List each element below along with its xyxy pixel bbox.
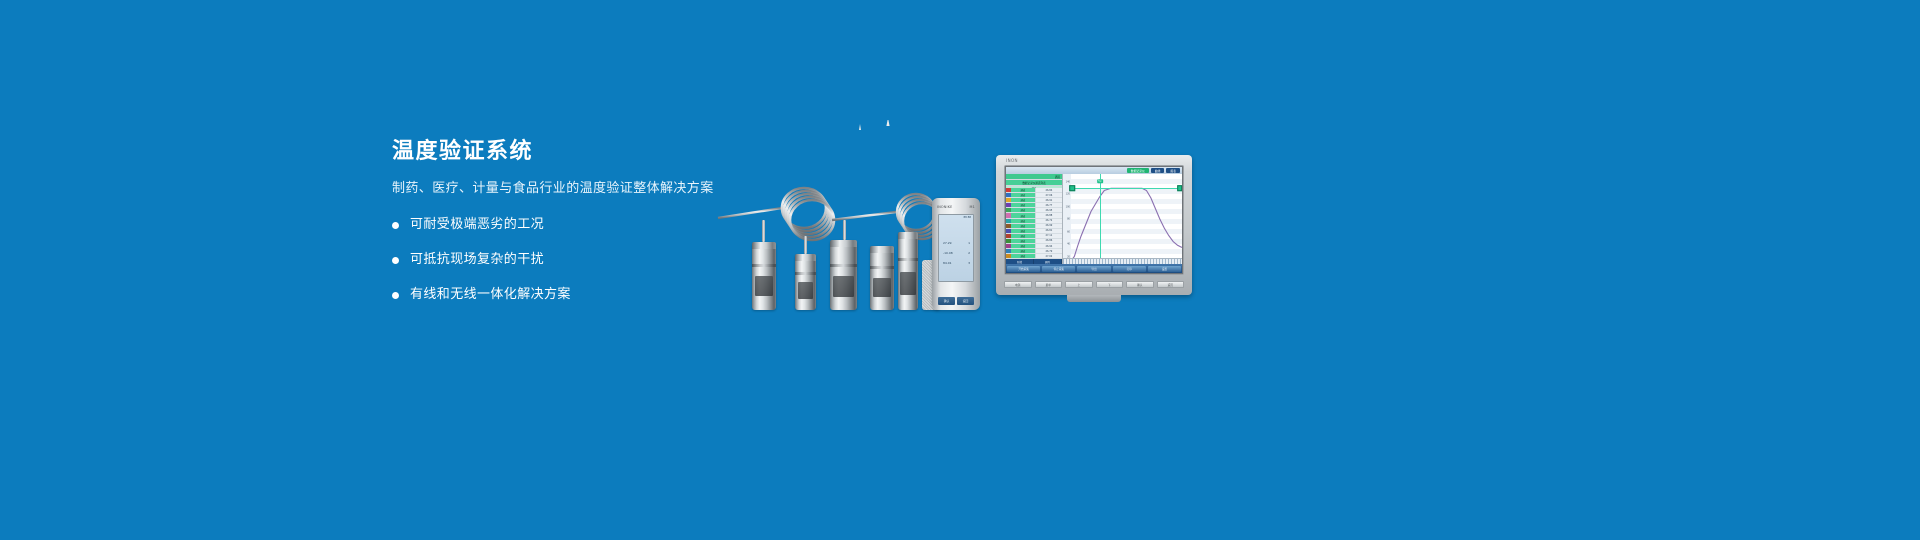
feature-label: 可耐受极端恶劣的工况 <box>410 216 544 234</box>
channel-value-cell: 26.72 <box>1035 219 1062 223</box>
monitor-up-button[interactable]: 上 <box>1065 281 1093 288</box>
channel-value-cell: 26.79 <box>1035 249 1062 253</box>
logger-cap <box>752 242 776 249</box>
monitor-power-button[interactable]: 电源 <box>1004 281 1032 288</box>
export-button[interactable]: 导出 <box>1077 266 1110 272</box>
tab-curve[interactable]: 曲线 <box>1151 168 1165 173</box>
chart-handle-right[interactable] <box>1177 185 1183 191</box>
print-button[interactable]: 打印 <box>1113 266 1146 272</box>
logger-label <box>755 276 773 296</box>
list-item <box>752 242 776 310</box>
logger-band <box>898 258 918 261</box>
list-item: 84.01 3 <box>943 261 970 265</box>
logger-cap <box>830 240 857 247</box>
product-banner: 温度验证系统 制药、医疗、计量与食品行业的温度验证整体解决方案 可耐受极端恶劣的… <box>0 0 1920 540</box>
reading-value: -10.08 <box>943 251 953 255</box>
channel-name-cell: 通道 <box>1011 254 1035 258</box>
chart-marker-a[interactable]: A点 <box>1097 179 1103 182</box>
channel-value-cell: 26.99 <box>1035 224 1062 228</box>
channel-name-cell: 通道 <box>1011 229 1035 233</box>
channel-value-cell: 27.06 <box>1035 193 1062 197</box>
channel-value-cell: 26.91 <box>1035 198 1062 202</box>
reading-value: 84.01 <box>943 261 952 265</box>
chart-y-tick: 140 <box>1066 180 1070 183</box>
channel-value-cell: 26.77 <box>1035 203 1062 207</box>
logger-body <box>898 232 918 310</box>
list-item <box>795 254 816 310</box>
software-body: 通道 数据记录仪通道列表 编号 通道26.84通道27.06通道26.91通道2… <box>1006 174 1182 264</box>
bullet-dot-icon <box>392 292 399 299</box>
cable-coil-1 <box>782 188 834 240</box>
monitor-hardware-buttons: 电源 菜单 上 下 确认 返回 <box>1004 278 1184 291</box>
chart-plot-area: A点 A点 <box>1071 174 1182 264</box>
validation-monitor: INON 数据记录仪 曲线 报表 通道 数据记录仪通道列表 编号 <box>996 155 1192 295</box>
reader-confirm-button[interactable]: 确认 <box>938 297 955 305</box>
channel-value-cell: 26.86 <box>1035 239 1062 243</box>
logger-band <box>752 264 776 267</box>
chart-cursor-line <box>1100 174 1101 264</box>
channel-name-cell: 通道 <box>1011 239 1035 243</box>
logger-label <box>833 276 854 297</box>
chart-y-tick: 40 <box>1067 243 1070 246</box>
software-toolbar: 开始采集 停止采集 导出 打印 设置 <box>1006 264 1182 273</box>
logger-label <box>900 272 915 295</box>
product-photo-group: INONIKE M1 88:88 27.29 1 -10.08 2 84.01 <box>700 120 1240 310</box>
stop-capture-button[interactable]: 停止采集 <box>1042 266 1075 272</box>
channel-name-cell: 通道 <box>1011 249 1035 253</box>
logger-stem <box>762 220 765 242</box>
channel-name-cell: 通道 <box>1011 213 1035 217</box>
channel-name-cell: 通道 <box>1011 244 1035 248</box>
chart-y-tick: 100 <box>1066 205 1070 208</box>
reading-index: 1 <box>968 241 970 245</box>
logger-band <box>870 266 894 269</box>
chart-handle-left[interactable] <box>1069 185 1075 191</box>
channel-name-cell: 通道 <box>1011 188 1035 192</box>
list-item: -10.08 2 <box>943 251 970 255</box>
feature-label: 有线和无线一体化解决方案 <box>410 286 571 304</box>
channel-value-cell: 27.02 <box>1035 254 1062 258</box>
brand-label: INONIKE <box>937 205 953 209</box>
tab-data-logger[interactable]: 数据记录仪 <box>1127 168 1149 173</box>
temperature-chart: 14012010080604020 A点 A点 <box>1063 174 1182 264</box>
monitor-down-button[interactable]: 下 <box>1096 281 1124 288</box>
chart-y-tick: 120 <box>1066 192 1070 195</box>
reading-index: 3 <box>968 261 970 265</box>
channel-row-list[interactable]: 通道26.84通道27.06通道26.91通道26.77通道26.95通道26.… <box>1006 188 1062 259</box>
channel-name-cell: 通道 <box>1011 203 1035 207</box>
reader-brand-row: INONIKE M1 <box>937 205 975 209</box>
monitor-menu-button[interactable]: 菜单 <box>1035 281 1063 288</box>
list-item: 27.29 1 <box>943 241 970 245</box>
list-item <box>898 232 918 310</box>
reader-keypad: 确认 返回 <box>938 297 974 305</box>
logger-band <box>830 264 857 267</box>
monitor-brand-label: INON <box>1006 158 1018 163</box>
list-item <box>830 240 857 310</box>
channel-value-cell: 26.84 <box>1035 188 1062 192</box>
tab-report[interactable]: 报表 <box>1166 168 1180 173</box>
bullet-dot-icon <box>392 257 399 264</box>
channel-name-cell: 通道 <box>1011 208 1035 212</box>
start-capture-button[interactable]: 开始采集 <box>1007 266 1040 272</box>
logger-cap <box>870 246 894 253</box>
channel-value-cell: 27.11 <box>1035 234 1062 238</box>
monitor-bezel: 数据记录仪 曲线 报表 通道 数据记录仪通道列表 编号 通道26.84通道27.… <box>1004 165 1184 275</box>
channel-name-cell: 通道 <box>1011 224 1035 228</box>
reading-index: 2 <box>968 251 970 255</box>
list-item <box>870 246 894 310</box>
channel-name-cell: 通道 <box>1011 198 1035 202</box>
chart-threshold-line <box>1071 188 1182 189</box>
reader-screen-badge: 88:88 <box>964 216 971 219</box>
logger-stem <box>804 236 807 254</box>
reader-back-button[interactable]: 返回 <box>957 297 974 305</box>
reading-value: 27.29 <box>943 241 952 245</box>
monitor-confirm-button[interactable]: 确认 <box>1126 281 1154 288</box>
monitor-stand <box>1067 295 1121 302</box>
logger-stem <box>843 220 846 240</box>
channel-value-cell: 26.81 <box>1035 229 1062 233</box>
channel-value-cell: 26.94 <box>1035 244 1062 248</box>
channel-name-cell: 通道 <box>1011 234 1035 238</box>
logger-label <box>798 282 814 299</box>
monitor-back-button[interactable]: 返回 <box>1157 281 1185 288</box>
feature-label: 可抵抗现场复杂的干扰 <box>410 251 544 269</box>
channel-value-cell: 26.88 <box>1035 213 1062 217</box>
logger-body <box>830 240 857 310</box>
channel-table: 通道 数据记录仪通道列表 编号 通道26.84通道27.06通道26.91通道2… <box>1006 174 1063 264</box>
chart-y-tick: 80 <box>1067 218 1070 221</box>
channel-name-cell: 通道 <box>1011 193 1035 197</box>
channel-name-cell: 通道 <box>1011 219 1035 223</box>
logger-cap <box>898 232 918 239</box>
logger-cap <box>795 254 816 261</box>
reader-screen: 88:88 27.29 1 -10.08 2 84.01 3 <box>938 214 974 282</box>
chart-y-tick: 60 <box>1067 230 1070 233</box>
logger-band <box>795 272 816 275</box>
settings-button[interactable]: 设置 <box>1148 266 1181 272</box>
logger-label <box>873 278 891 297</box>
model-label: M1 <box>970 205 975 209</box>
reader-reading-list: 27.29 1 -10.08 2 84.01 3 <box>943 241 970 271</box>
bullet-dot-icon <box>392 222 399 229</box>
software-tabbar: 数据记录仪 曲线 报表 <box>1006 167 1182 174</box>
handheld-reader[interactable]: INONIKE M1 88:88 27.29 1 -10.08 2 84.01 <box>932 198 980 310</box>
software-screen: 数据记录仪 曲线 报表 通道 数据记录仪通道列表 编号 通道26.84通道27.… <box>1005 166 1183 274</box>
channel-value-cell: 26.95 <box>1035 208 1062 212</box>
